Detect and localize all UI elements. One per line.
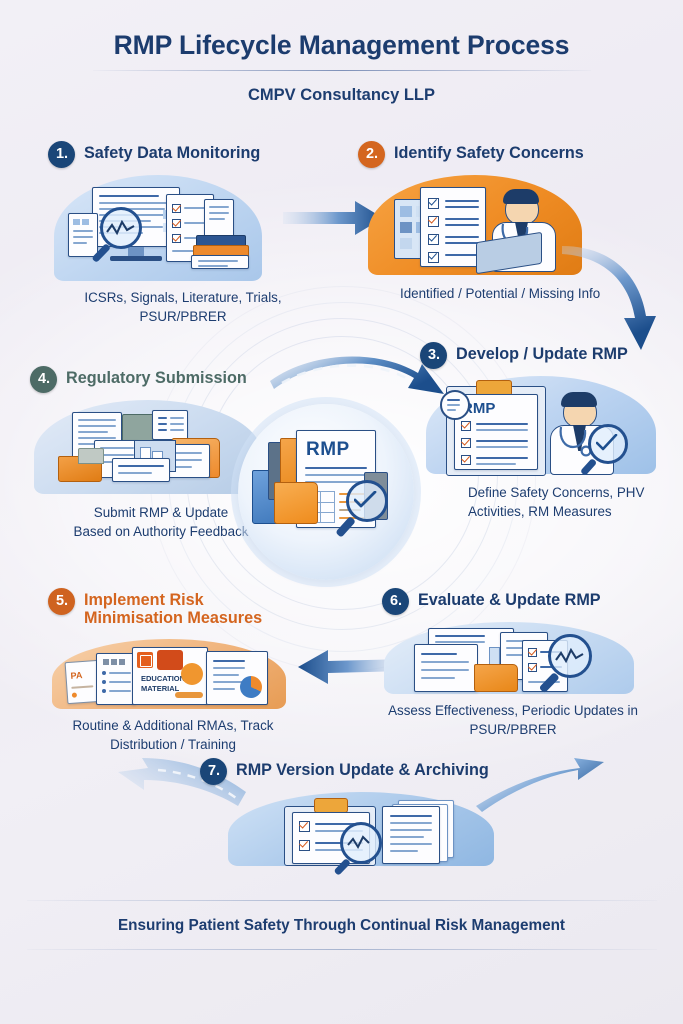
step-3-illustration: RMP xyxy=(420,376,668,478)
step-4-title: Regulatory Submission xyxy=(66,366,247,387)
book-stack xyxy=(191,255,249,269)
footer-divider-top xyxy=(27,900,657,901)
step-2-title: Identify Safety Concerns xyxy=(394,141,584,162)
step-6-title: Evaluate & Update RMP xyxy=(418,588,601,609)
step-2-identify-safety-concerns[interactable]: 2. Identify Safety Concerns xyxy=(358,141,648,303)
step-1-caption: ICSRs, Signals, Literature, Trials, PSUR… xyxy=(48,288,318,326)
step-5-header: 5. Implement Risk Minimisation Measures xyxy=(48,588,348,627)
report-document xyxy=(414,644,478,692)
hub-rmp-label: RMP xyxy=(306,439,350,461)
magnifier-icon xyxy=(100,207,142,249)
step-5-caption: Routine & Additional RMAs, Track Distrib… xyxy=(48,716,298,754)
step-1-title: Safety Data Monitoring xyxy=(84,141,260,162)
centre-hub-rmp: RMP xyxy=(238,404,414,580)
footer-divider-bottom xyxy=(27,949,657,950)
pie-chart-icon xyxy=(240,676,262,698)
folder-icon xyxy=(474,664,518,692)
step-4-illustration xyxy=(30,400,270,498)
leaflet-card xyxy=(96,653,136,705)
document-stack-item xyxy=(112,458,170,482)
step-2-badge: 2. xyxy=(358,141,385,168)
step-5-title: Implement Risk Minimisation Measures xyxy=(84,588,262,627)
hub-magnifier-check-icon xyxy=(346,480,388,522)
monitor-base xyxy=(110,256,162,261)
step-1-badge: 1. xyxy=(48,141,75,168)
infographic-page: RMP Lifecycle Management Process CMPV Co… xyxy=(0,0,683,1024)
step-5-badge: 5. xyxy=(48,588,75,615)
step-3-badge: 3. xyxy=(420,342,447,369)
side-document xyxy=(68,213,98,257)
step-6-evaluate-update-rmp[interactable]: 6. Evaluate & Update RMP xyxy=(382,588,674,739)
archive-document xyxy=(382,806,440,864)
step-3-caption: Define Safety Concerns, PHV Activities, … xyxy=(420,483,676,521)
educational-material-line-2: MATERIAL xyxy=(141,684,179,693)
step-3-header: 3. Develop / Update RMP xyxy=(420,342,676,369)
step-1-header: 1. Safety Data Monitoring xyxy=(48,141,318,168)
step-1-safety-data-monitoring[interactable]: 1. Safety Data Monitoring xyxy=(48,141,318,326)
page-footer: Ensuring Patient Safety Through Continua… xyxy=(0,900,683,950)
stamp-icon xyxy=(440,390,470,420)
step-7-badge: 7. xyxy=(200,758,227,785)
step-2-illustration xyxy=(358,175,608,279)
title-divider xyxy=(93,70,591,71)
step-4-header: 4. Regulatory Submission xyxy=(30,366,292,393)
hub-folder-orange-front xyxy=(274,482,318,524)
step-7-illustration xyxy=(222,792,502,868)
magnifier-check-icon xyxy=(588,424,628,464)
step-7-header: 7. RMP Version Update & Archiving xyxy=(200,758,540,785)
page-title: RMP Lifecycle Management Process xyxy=(0,30,683,61)
magnifier-icon xyxy=(548,634,592,678)
document-stack-item xyxy=(152,410,188,440)
magnifier-icon xyxy=(340,822,382,864)
educational-material-card: EDUCATIONAL MATERIAL xyxy=(132,647,208,705)
page-header: RMP Lifecycle Management Process CMPV Co… xyxy=(0,0,683,105)
folder-icon xyxy=(78,448,104,464)
step-2-caption: Identified / Potential / Missing Info xyxy=(358,284,648,303)
step-6-header: 6. Evaluate & Update RMP xyxy=(382,588,674,615)
leaflet-card xyxy=(206,651,268,705)
step-6-caption: Assess Effectiveness, Periodic Updates i… xyxy=(382,701,644,739)
step-6-badge: 6. xyxy=(382,588,409,615)
step-4-badge: 4. xyxy=(30,366,57,393)
monitor-neck xyxy=(128,247,144,256)
step-5-illustration: PA EDUCATIONA xyxy=(48,639,298,711)
step-3-develop-update-rmp[interactable]: 3. Develop / Update RMP RMP xyxy=(420,342,676,521)
leaflet-card-label: PA xyxy=(70,670,83,681)
step-1-illustration xyxy=(48,175,310,283)
step-3-title: Develop / Update RMP xyxy=(456,342,628,363)
step-7-title: RMP Version Update & Archiving xyxy=(236,758,489,779)
step-5-implement-risk-minimisation-measures[interactable]: 5. Implement Risk Minimisation Measures … xyxy=(48,588,348,754)
page-subtitle: CMPV Consultancy LLP xyxy=(0,86,683,105)
footer-tagline: Ensuring Patient Safety Through Continua… xyxy=(0,917,683,935)
step-2-header: 2. Identify Safety Concerns xyxy=(358,141,648,168)
clipboard-clip-icon xyxy=(314,798,348,813)
step-6-illustration xyxy=(382,622,644,696)
step-7-rmp-version-update-archiving[interactable]: 7. RMP Version Update & Archiving xyxy=(200,758,540,868)
